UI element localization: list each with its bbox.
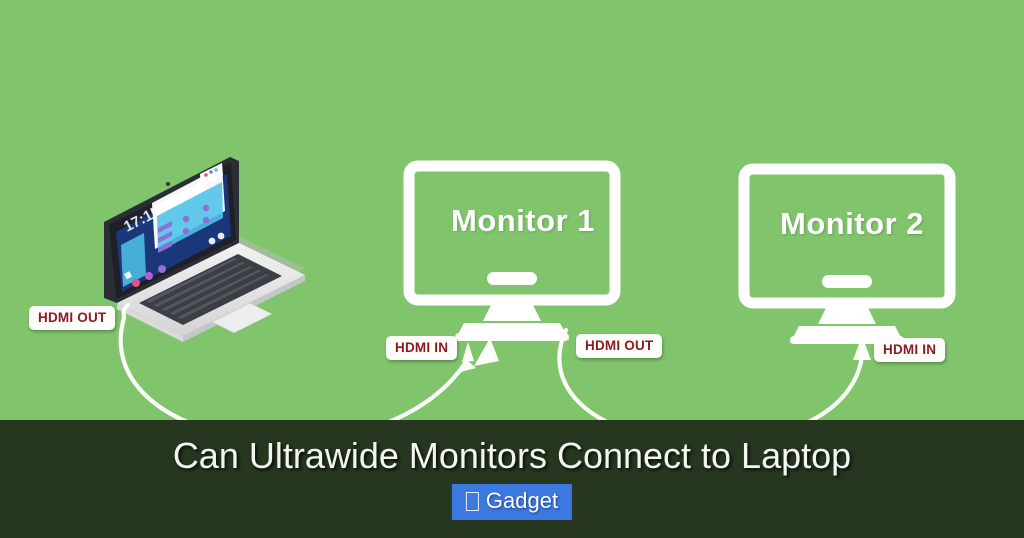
badge-laptop-hdmi-out: HDMI OUT bbox=[29, 306, 115, 330]
badge-monitor1-hdmi-out: HDMI OUT bbox=[576, 334, 662, 358]
missing-glyph-icon bbox=[466, 492, 479, 511]
brand-badge[interactable]: Gadget bbox=[452, 484, 572, 520]
brand-badge-label: Gadget bbox=[486, 488, 558, 513]
illustration-canvas: 17:15 bbox=[0, 0, 1024, 538]
laptop-illustration: 17:15 bbox=[104, 157, 305, 342]
monitor-2 bbox=[744, 169, 950, 344]
page-title: Can Ultrawide Monitors Connect to Laptop bbox=[0, 435, 1024, 477]
monitor-2-label: Monitor 2 bbox=[780, 206, 924, 242]
badge-monitor2-hdmi-in: HDMI IN bbox=[874, 338, 945, 362]
monitor-1-label: Monitor 1 bbox=[451, 203, 595, 239]
monitor-1 bbox=[409, 166, 615, 341]
badge-monitor1-hdmi-in: HDMI IN bbox=[386, 336, 457, 360]
